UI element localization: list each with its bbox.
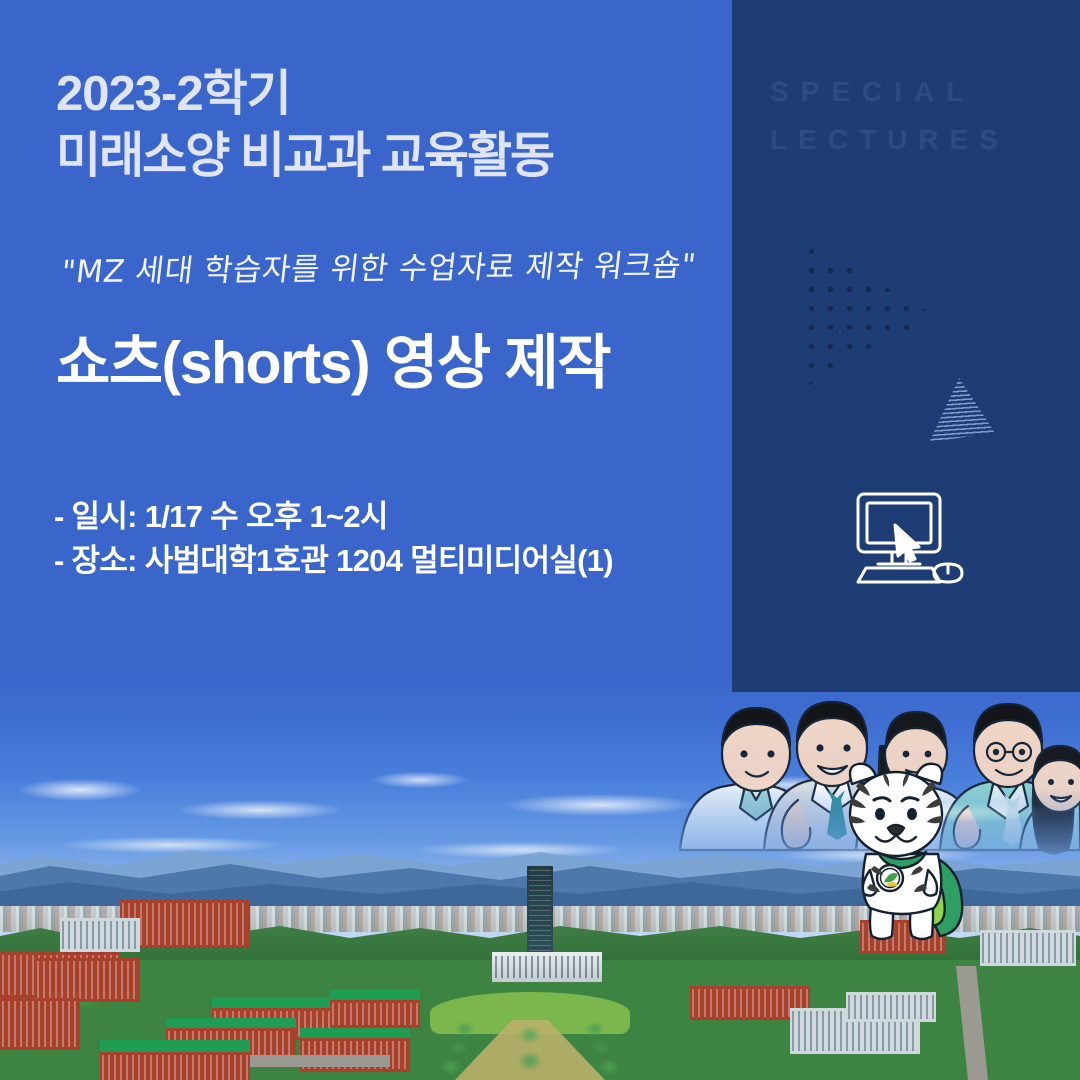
special-lectures-watermark: SPECIAL LECTURES (770, 68, 1070, 164)
detail-datetime: - 일시: 1/17 수 오후 1~2시 (54, 495, 613, 539)
desktop-computer-icon (848, 488, 988, 592)
brick-building (0, 998, 80, 1050)
page-title-term: 2023-2학기 (56, 68, 291, 121)
mall-trees (425, 1015, 635, 1080)
grey-building (980, 930, 1076, 966)
poster: SPECIAL LECTURES 2023-2학기 미래소양 비교과 교육활동 … (0, 0, 1080, 1080)
white-tiger-mascot (822, 758, 982, 948)
special-line1: SPECIAL (770, 68, 1070, 116)
event-details: - 일시: 1/17 수 오후 1~2시 - 장소: 사범대학1호관 1204 … (54, 495, 613, 583)
workshop-quote: "MZ 세대 학습자를 위한 수업자료 제작 워크숍" (59, 240, 699, 292)
grey-building (60, 918, 140, 952)
page-title-program: 미래소양 비교과 교육활동 (56, 130, 553, 183)
detail-location: - 장소: 사범대학1호관 1204 멀티미디어실(1) (54, 539, 613, 583)
brick-building (35, 958, 140, 1002)
campus-tower-building (527, 866, 553, 956)
grey-building (846, 992, 936, 1022)
brick-building (100, 1052, 250, 1080)
special-line2: LECTURES (770, 116, 1070, 164)
campus-tower-base (492, 952, 602, 982)
brick-building (330, 1000, 420, 1028)
campus-road (250, 1055, 390, 1067)
main-title: 쇼츠(shorts) 영상 제작 (56, 315, 610, 400)
